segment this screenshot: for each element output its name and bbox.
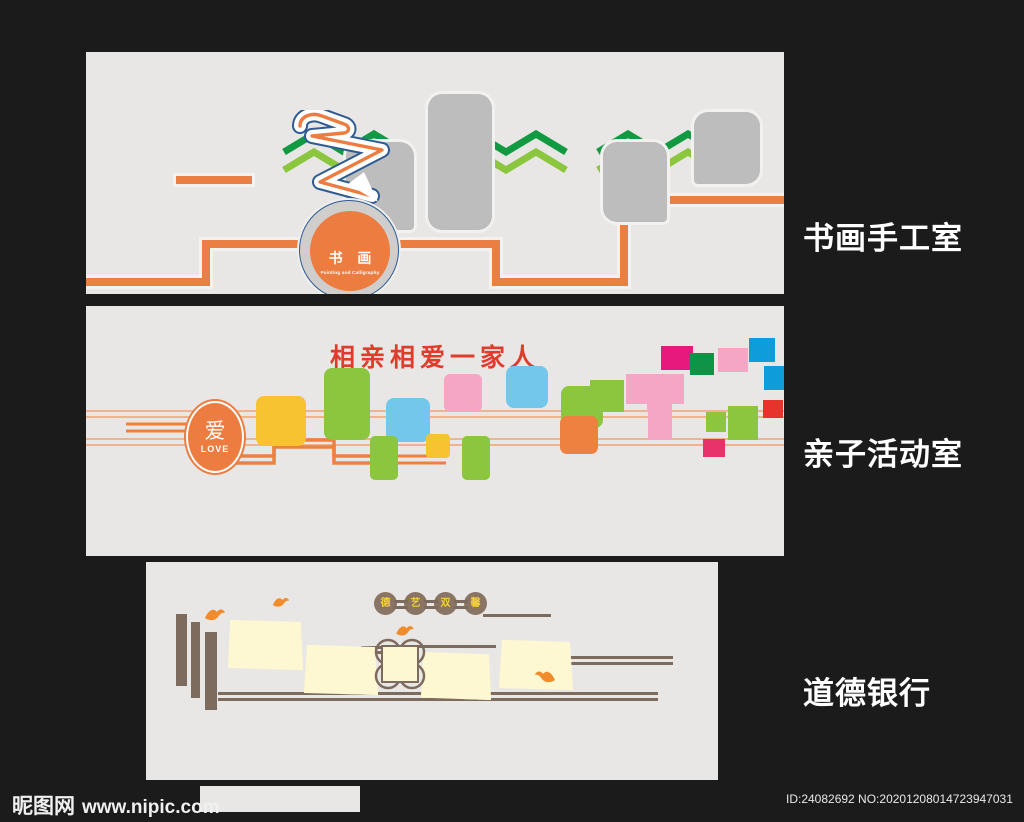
coin-badge[interactable]: 双	[434, 592, 457, 615]
coin-label: 艺	[411, 599, 421, 609]
color-tile[interactable]	[763, 400, 783, 418]
coin-connector	[454, 600, 468, 603]
flower-frame[interactable]	[372, 637, 428, 691]
color-tile[interactable]	[256, 396, 306, 446]
color-tile[interactable]	[370, 436, 398, 480]
color-tile	[561, 421, 569, 429]
coin-badge[interactable]: 馨	[464, 592, 487, 615]
panel-morality-bank[interactable]: 德 艺 双 馨	[146, 562, 718, 780]
coin-connector	[454, 606, 468, 609]
badge-love-en: LOVE	[201, 444, 230, 454]
badge-label-cn: 书 画	[324, 248, 377, 268]
asset-id-text: ID:24082692 NO:20201208014723947031	[786, 792, 1013, 806]
coin-badge[interactable]: 德	[374, 592, 397, 615]
badge-painting-calligraphy[interactable]: 书 画 Painting and Calligraphy	[299, 200, 399, 294]
caption-painting-craft-room: 书画手工室	[803, 213, 963, 258]
vertical-bar	[191, 622, 200, 698]
bird-icon	[534, 669, 556, 685]
bird-icon	[204, 607, 226, 623]
badge-label-en: Painting and Calligraphy	[321, 270, 380, 275]
color-tile[interactable]	[661, 346, 693, 370]
color-tile[interactable]	[703, 439, 725, 457]
rail-line	[483, 614, 551, 617]
photo-frame[interactable]	[694, 112, 760, 184]
coin-badge[interactable]: 艺	[404, 592, 427, 615]
watermark-bar	[200, 786, 360, 812]
coin-label: 馨	[471, 599, 481, 609]
badge-love-cn: 爱	[205, 421, 226, 442]
bird-icon	[272, 596, 290, 609]
color-tile[interactable]	[728, 406, 758, 440]
photo-frame[interactable]	[428, 94, 492, 230]
caption-parent-child-room: 亲子活动室	[803, 429, 963, 474]
coin-connector	[394, 606, 408, 609]
coin-connector	[424, 600, 438, 603]
color-tile[interactable]	[749, 338, 775, 362]
panel-parent-child-room[interactable]: 相亲相爱一家人 爱 LOVE	[86, 306, 784, 556]
cream-card[interactable]	[228, 620, 303, 670]
color-tile[interactable]	[462, 436, 490, 480]
watermark-site-url: www.nipic.com	[82, 797, 220, 819]
coin-label: 双	[441, 599, 451, 609]
color-tile[interactable]	[444, 374, 482, 412]
caption-morality-bank: 道德银行	[803, 668, 931, 713]
design-canvas: 书 画 Painting and Calligraphy 相亲相爱一家人 爱 L…	[0, 0, 1024, 822]
bird-icon	[395, 624, 415, 638]
badge-love[interactable]: 爱 LOVE	[186, 401, 244, 473]
badge-core: 书 画 Painting and Calligraphy	[310, 211, 390, 291]
color-tile[interactable]	[706, 412, 726, 432]
color-tile[interactable]	[718, 348, 748, 372]
watermark-site-cn: 昵图网	[12, 790, 75, 820]
color-tile[interactable]	[764, 366, 784, 390]
color-tile[interactable]	[590, 380, 624, 412]
cream-card[interactable]	[421, 652, 491, 700]
cream-card[interactable]	[304, 645, 378, 695]
color-tile[interactable]	[324, 368, 370, 440]
color-tile[interactable]	[506, 366, 548, 408]
panel-painting-craft-room[interactable]: 书 画 Painting and Calligraphy	[86, 52, 784, 294]
watermark: 昵图网 www.nipic.com	[12, 790, 220, 820]
coin-connector	[424, 606, 438, 609]
rail-line	[218, 698, 658, 701]
color-tile[interactable]	[690, 353, 714, 375]
vertical-bar	[176, 614, 187, 686]
color-tile[interactable]	[426, 434, 450, 458]
coin-label: 德	[381, 599, 391, 609]
vertical-bar	[205, 632, 217, 710]
photo-frame[interactable]	[603, 142, 667, 222]
color-tile[interactable]	[647, 398, 661, 412]
coin-connector	[394, 600, 408, 603]
